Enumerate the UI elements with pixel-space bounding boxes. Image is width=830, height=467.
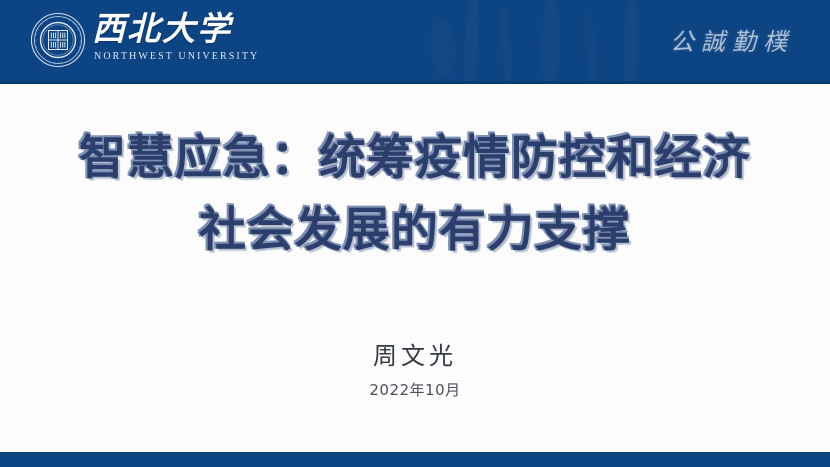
slide-title-line-2: 社会发展的有力支撑 xyxy=(0,198,830,264)
slide-title: 智慧应急：统筹疫情防控和经济 社会发展的有力支撑 xyxy=(0,126,830,264)
slide-footer-band xyxy=(0,452,830,467)
university-wordmark: 西北大学 NORTHWEST UNIVERSITY xyxy=(92,9,252,75)
presenter-info: 周文光 2022年10月 xyxy=(0,340,830,400)
presentation-title-slide: 西北大学 NORTHWEST UNIVERSITY 公誠勤樸 智慧应急：统筹疫情… xyxy=(0,0,830,467)
university-motto: 公誠勤樸 xyxy=(670,26,794,58)
presenter-name: 周文光 xyxy=(0,340,830,372)
university-name-en: NORTHWEST UNIVERSITY xyxy=(92,51,252,63)
slide-header-band: 西北大学 NORTHWEST UNIVERSITY 公誠勤樸 xyxy=(0,0,830,84)
presentation-date: 2022年10月 xyxy=(0,380,830,400)
university-seal-icon xyxy=(30,12,86,68)
slide-title-line-1: 智慧应急：统筹疫情防控和经济 xyxy=(0,126,830,192)
university-name-cn: 西北大学 xyxy=(92,9,252,49)
